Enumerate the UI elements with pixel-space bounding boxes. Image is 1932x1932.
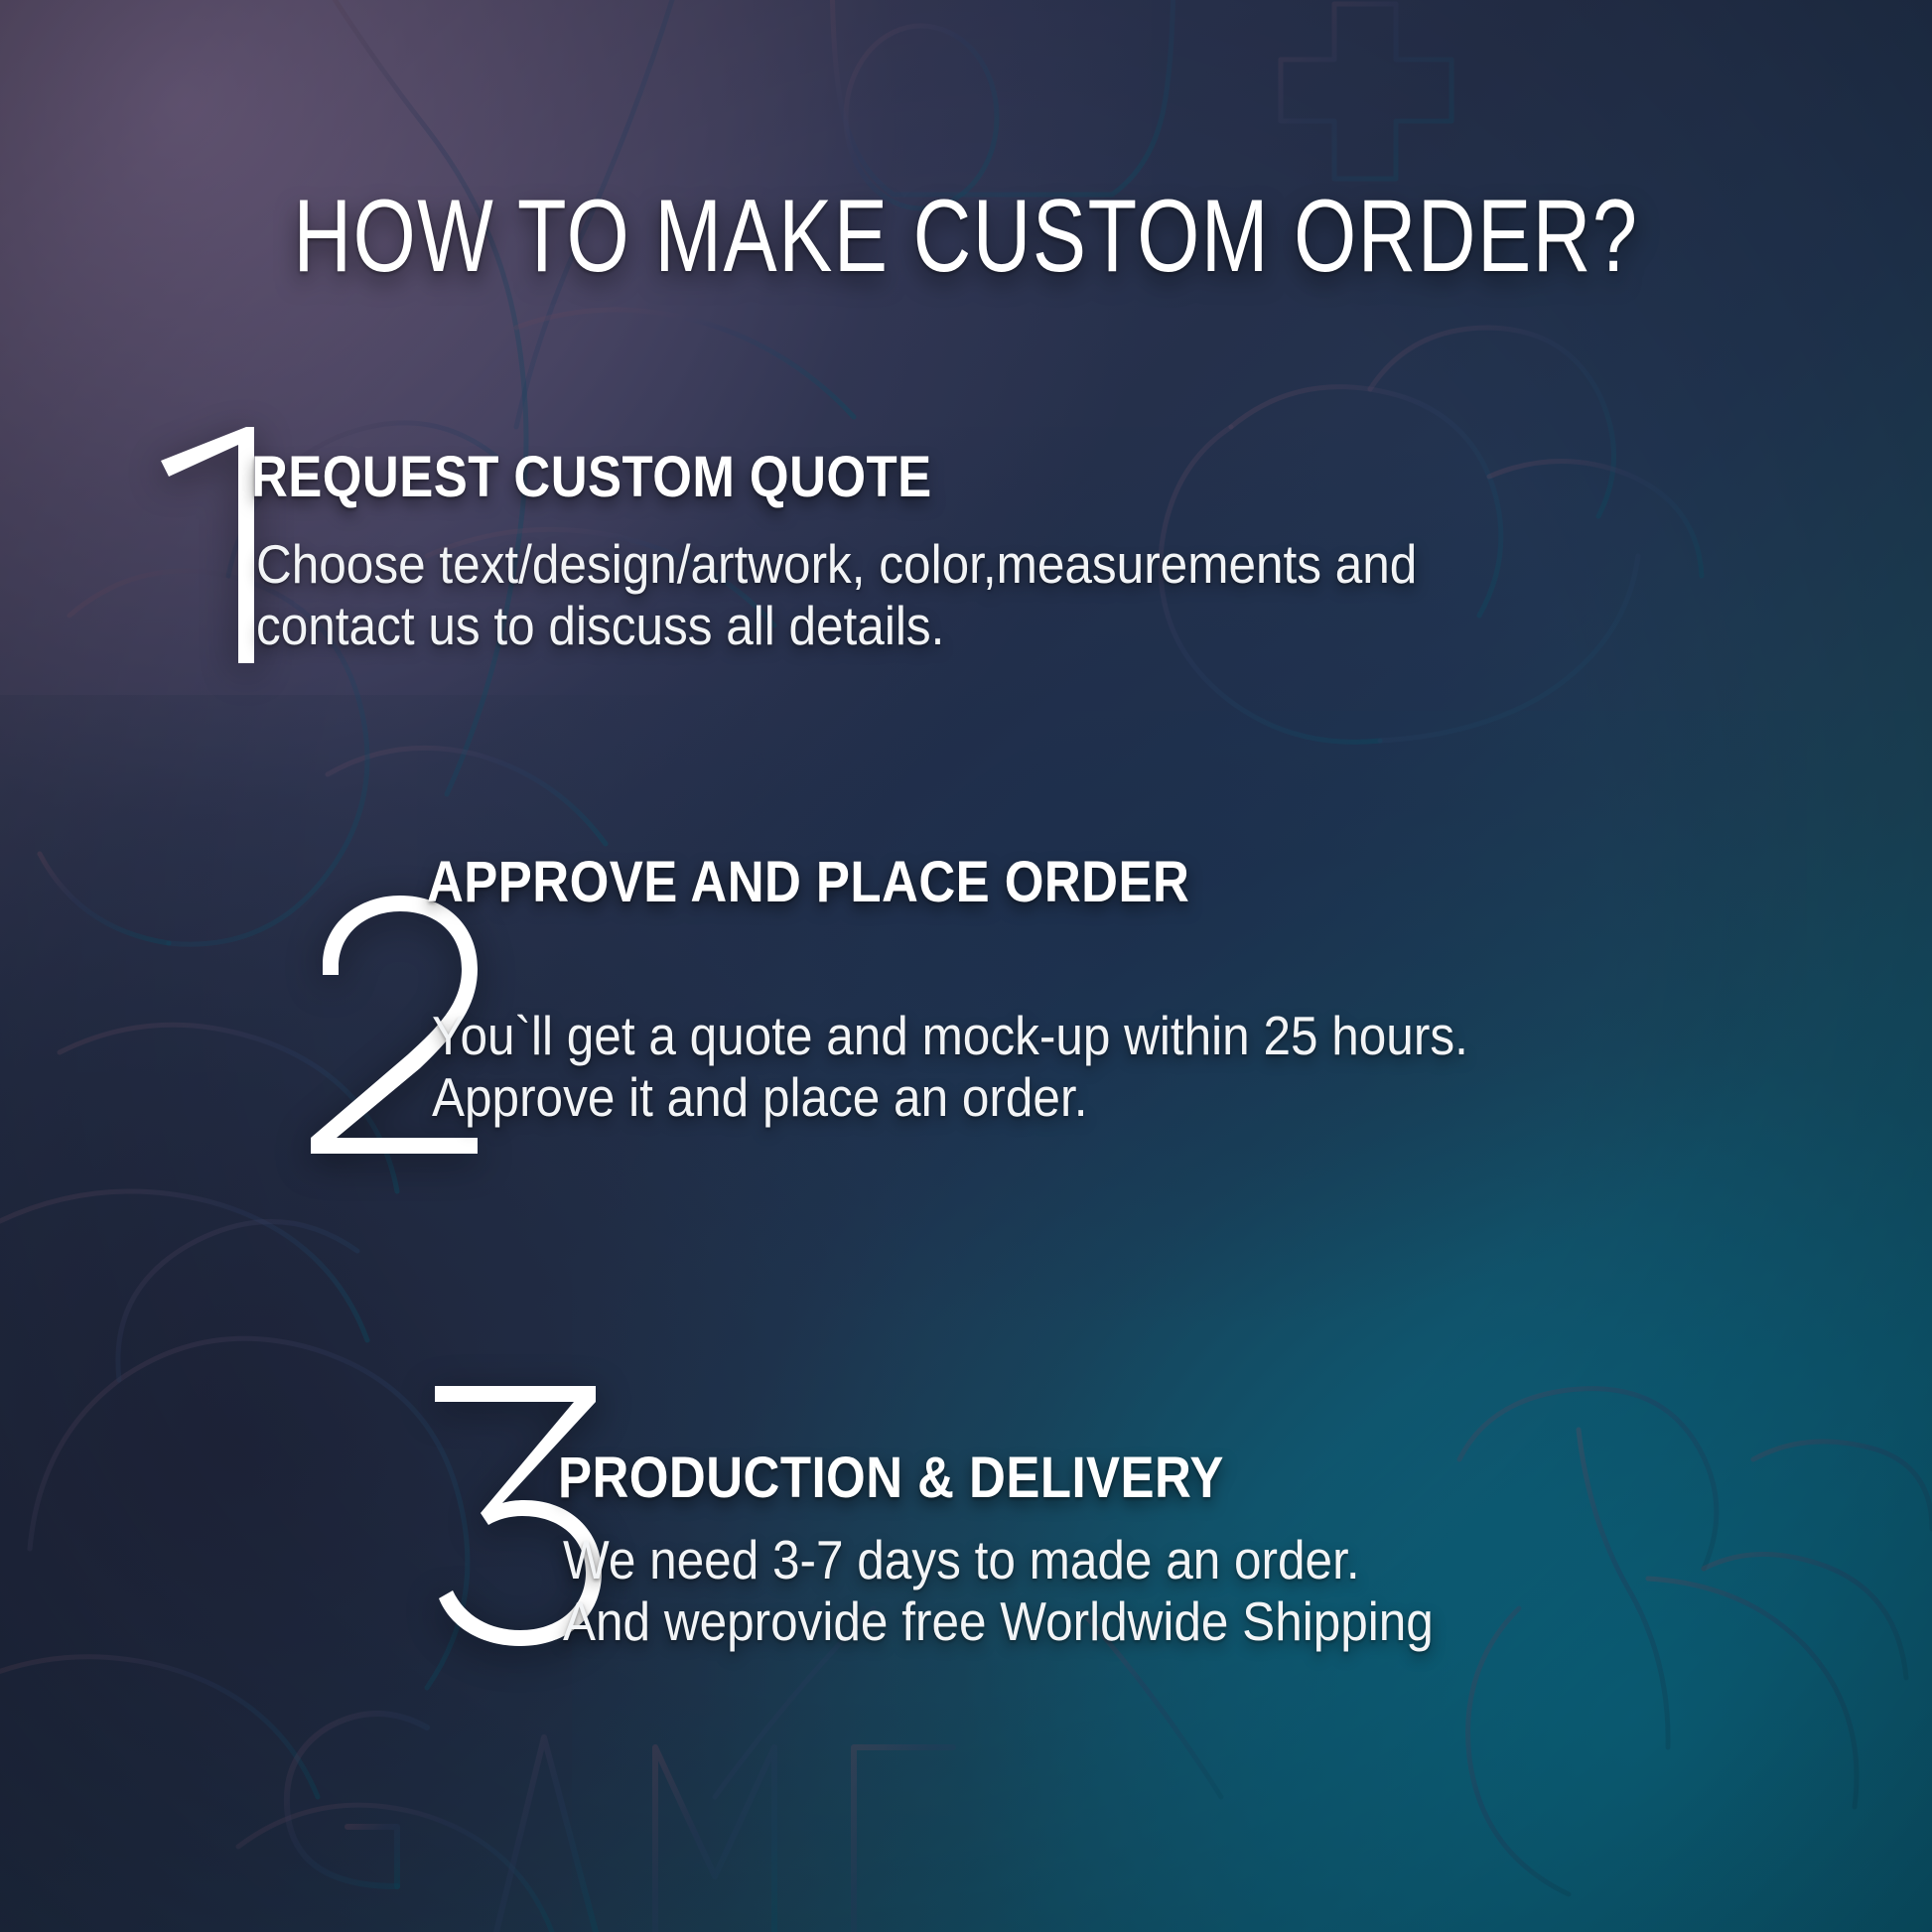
step-1-body-line-2: contact us to discuss all details. [256,595,1417,656]
step-2-heading: APPROVE AND PLACE ORDER [427,854,1189,911]
step-1-body: Choose text/design/artwork, color,measur… [256,533,1417,656]
step-1-body-line-1: Choose text/design/artwork, color,measur… [256,533,1417,595]
step-1-heading: REQUEST CUSTOM QUOTE [251,449,932,506]
step-3-body: We need 3-7 days to made an order. And w… [563,1529,1434,1652]
poster-canvas: HOW TO MAKE CUSTOM ORDER? REQUEST CUSTOM… [0,0,1932,1932]
step-2-body-line-1: You`ll get a quote and mock-up within 25… [432,1005,1468,1066]
poster-content: HOW TO MAKE CUSTOM ORDER? REQUEST CUSTOM… [0,0,1932,1932]
step-3-heading: PRODUCTION & DELIVERY [558,1449,1224,1507]
step-3-body-line-2: And weprovide free Worldwide Shipping [563,1590,1434,1652]
step-2-body-line-2: Approve it and place an order. [432,1066,1468,1128]
page-title: HOW TO MAKE CUSTOM ORDER? [212,185,1720,288]
step-3-body-line-1: We need 3-7 days to made an order. [563,1529,1434,1590]
step-2-body: You`ll get a quote and mock-up within 25… [432,1005,1468,1128]
